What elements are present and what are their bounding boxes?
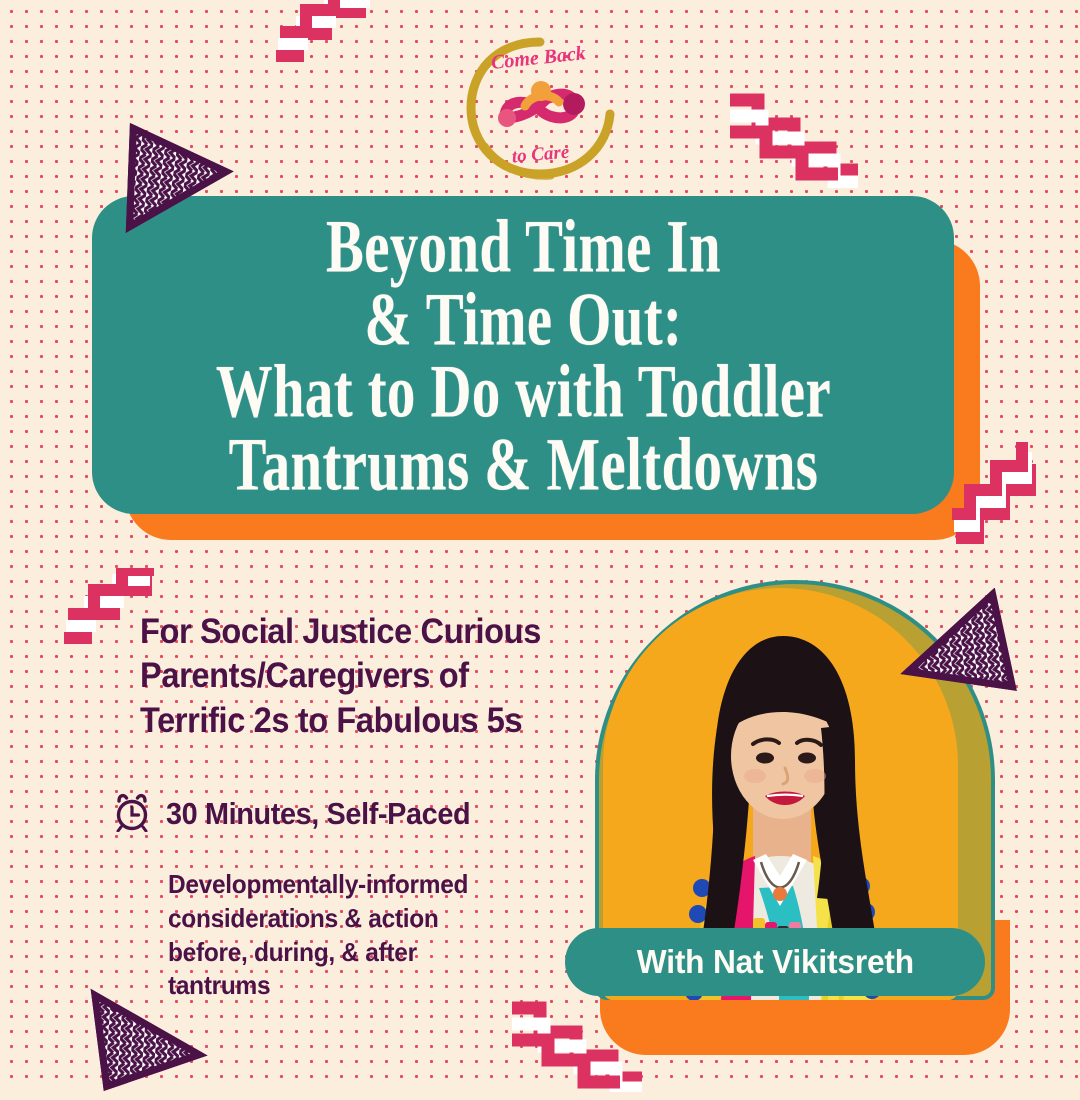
presenter-name: With Nat Vikitsreth	[636, 943, 913, 981]
pink-zigzag-top	[268, 0, 388, 71]
duration-label: 30 Minutes, Self-Paced	[166, 796, 470, 832]
duration-row: 30 Minutes, Self-Paced	[112, 790, 493, 837]
logo-script-bottom: to Care	[511, 142, 571, 168]
pink-zigzag-left	[58, 568, 168, 663]
come-back-to-care-logo: Come Back to Care	[455, 28, 625, 188]
alarm-clock-icon	[112, 790, 152, 837]
chevron-triangle-top-left	[100, 118, 240, 253]
audience-description: For Social Justice Curious Parents/Careg…	[140, 610, 568, 743]
pink-zigzag-right	[950, 440, 1050, 555]
pink-zigzag-top-right	[718, 78, 868, 193]
chevron-triangle-photo-right	[890, 588, 1030, 713]
chevron-triangle-bottom-left	[72, 985, 222, 1100]
session-description: Developmentally-informed considerations …	[168, 868, 544, 1003]
page-title: Beyond Time In & Time Out: What to Do wi…	[215, 210, 830, 500]
